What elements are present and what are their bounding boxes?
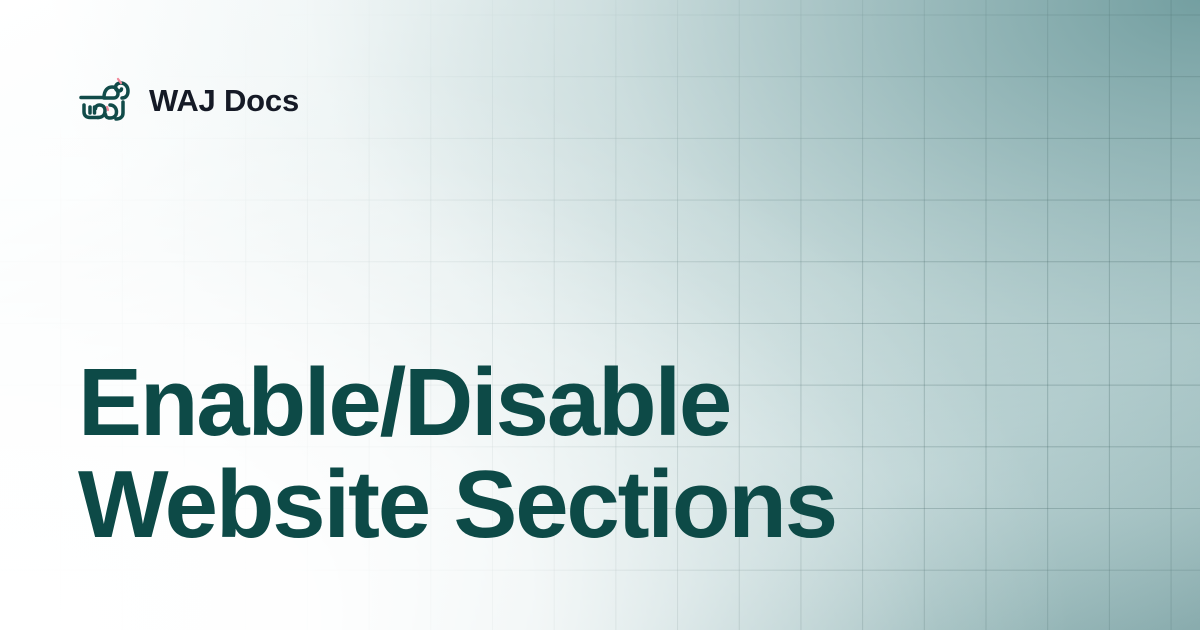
page-title-block: Enable/Disable Website Sections xyxy=(78,352,1078,556)
og-card: WAJ Docs Enable/Disable Website Sections xyxy=(0,0,1200,630)
brand-name-text: WAJ Docs xyxy=(149,85,299,116)
waj-arabic-wordmark-logo-icon xyxy=(78,76,130,124)
brand-header: WAJ Docs xyxy=(78,76,299,124)
page-title: Enable/Disable Website Sections xyxy=(78,352,1078,556)
